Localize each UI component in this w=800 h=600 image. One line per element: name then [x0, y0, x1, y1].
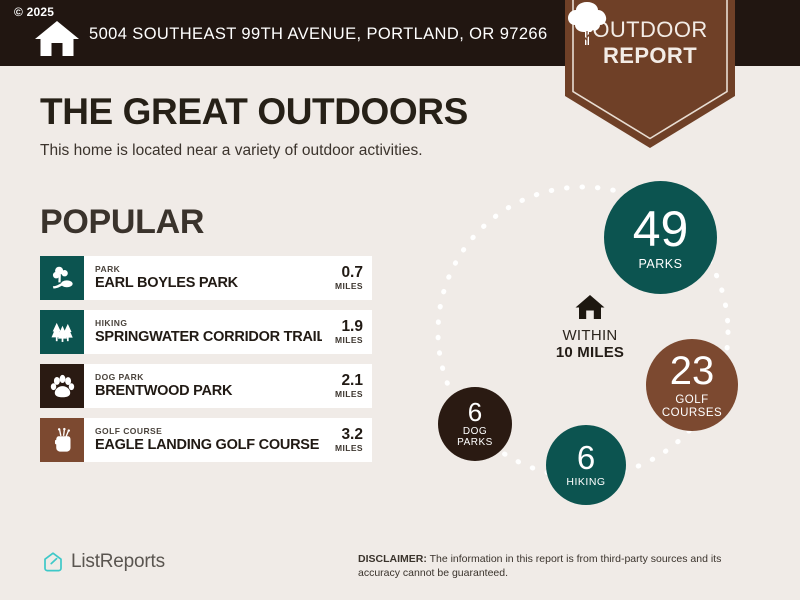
list-item-distance-value: 1.9: [341, 318, 363, 335]
cluster-center-caption: WITHIN 10 MILES: [525, 294, 655, 362]
list-item-distance-unit: MILES: [335, 443, 363, 454]
pine-trees-icon: [49, 319, 76, 346]
stat-bubble-label-line2: COURSES: [662, 407, 722, 419]
stat-bubble-label: PARKS: [639, 258, 683, 272]
cluster-center-line2: 10 MILES: [525, 344, 655, 362]
disclaimer-label: DISCLAIMER:: [358, 553, 427, 565]
stat-bubble-dog-parks[interactable]: 6 DOG PARKS: [438, 387, 512, 461]
list-item-icon-box: [40, 364, 84, 408]
popular-section-heading: POPULAR: [40, 203, 204, 242]
list-item-name: EARL BOYLES PARK: [95, 275, 322, 292]
stat-bubble-label-line2: PARKS: [457, 438, 493, 449]
stat-bubble-parks[interactable]: 49 PARKS: [604, 181, 717, 294]
list-item-icon-box: [40, 310, 84, 354]
list-item[interactable]: GOLF COURSE EAGLE LANDING GOLF COURSE 3.…: [40, 418, 372, 462]
copyright-label: © 2025: [14, 5, 54, 19]
list-item-distance-value: 0.7: [341, 264, 363, 281]
house-icon: [34, 19, 80, 57]
popular-list: PARK EARL BOYLES PARK 0.7 MILES HIKING S…: [40, 256, 372, 462]
list-item-category: GOLF COURSE: [95, 426, 322, 437]
list-item-name: EAGLE LANDING GOLF COURSE: [95, 437, 322, 454]
stat-bubble-label: GOLF COURSES: [662, 394, 722, 419]
list-item[interactable]: PARK EARL BOYLES PARK 0.7 MILES: [40, 256, 372, 300]
list-item-category: HIKING: [95, 318, 322, 329]
list-item-category: DOG PARK: [95, 372, 322, 383]
listreports-house-logo-icon: [42, 551, 64, 573]
list-item-text: DOG PARK BRENTWOOD PARK: [84, 364, 322, 408]
stat-bubble-value: 49: [633, 204, 689, 254]
list-item-name: SPRINGWATER CORRIDOR TRAIL: [95, 329, 322, 346]
paw-print-icon: [49, 373, 76, 400]
list-item-name: BRENTWOOD PARK: [95, 383, 322, 400]
list-item-distance-unit: MILES: [335, 335, 363, 346]
golf-bag-icon: [49, 427, 76, 454]
list-item-distance: 0.7 MILES: [322, 256, 372, 300]
list-item-text: GOLF COURSE EAGLE LANDING GOLF COURSE: [84, 418, 322, 462]
stat-bubble-hiking[interactable]: 6 HIKING: [546, 425, 626, 505]
list-item-text: HIKING SPRINGWATER CORRIDOR TRAIL: [84, 310, 322, 354]
list-item-distance-unit: MILES: [335, 389, 363, 400]
stat-bubble-label: DOG PARKS: [457, 427, 493, 449]
list-item-distance-value: 3.2: [341, 426, 363, 443]
list-item[interactable]: HIKING SPRINGWATER CORRIDOR TRAIL 1.9 MI…: [40, 310, 372, 354]
list-item-category: PARK: [95, 264, 322, 275]
list-item-icon-box: [40, 418, 84, 462]
tree-icon: [565, 0, 609, 46]
list-item-distance-unit: MILES: [335, 281, 363, 292]
page-subtitle: This home is located near a variety of o…: [40, 142, 423, 160]
park-tree-path-icon: [49, 265, 76, 292]
house-icon: [575, 294, 605, 320]
list-item-distance-value: 2.1: [341, 372, 363, 389]
stat-bubble-label: HIKING: [566, 477, 605, 488]
list-item-distance: 1.9 MILES: [322, 310, 372, 354]
list-item-icon-box: [40, 256, 84, 300]
page-title: THE GREAT OUTDOORS: [40, 91, 468, 133]
listreports-logo-text: ListReports: [71, 551, 165, 573]
outdoor-report-badge: OUTDOOR REPORT: [565, 0, 735, 148]
listreports-logo[interactable]: ListReports: [42, 551, 165, 573]
stat-bubble-golf-courses[interactable]: 23 GOLF COURSES: [646, 339, 738, 431]
stat-bubble-label-line1: GOLF: [662, 394, 722, 406]
disclaimer: DISCLAIMER: The information in this repo…: [358, 553, 730, 580]
cluster-center-line1: WITHIN: [525, 327, 655, 344]
list-item-text: PARK EARL BOYLES PARK: [84, 256, 322, 300]
stat-bubble-value: 23: [670, 351, 715, 391]
nearby-amenities-cluster: 49 PARKS 23 GOLF COURSES 6 HIKING 6 DOG …: [420, 168, 760, 518]
stat-bubble-value: 6: [577, 441, 595, 474]
property-address: 5004 SOUTHEAST 99TH AVENUE, PORTLAND, OR…: [89, 25, 548, 44]
badge-title-line2: REPORT: [565, 43, 735, 69]
list-item-distance: 2.1 MILES: [322, 364, 372, 408]
list-item[interactable]: DOG PARK BRENTWOOD PARK 2.1 MILES: [40, 364, 372, 408]
list-item-distance: 3.2 MILES: [322, 418, 372, 462]
stat-bubble-value: 6: [468, 399, 482, 425]
